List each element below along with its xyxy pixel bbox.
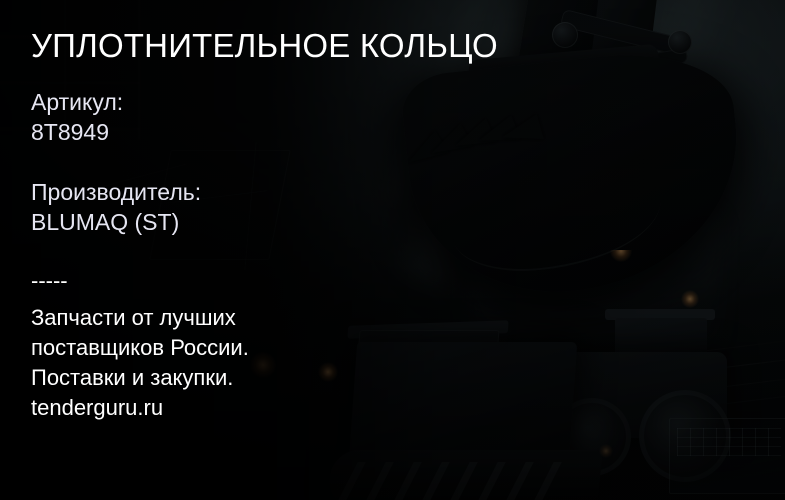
manufacturer-label: Производитель: (31, 177, 201, 207)
promo-block: Запчасти от лучших поставщиков России. П… (31, 303, 249, 423)
article-field: Артикул: 8T8949 (31, 87, 123, 147)
site-url[interactable]: tenderguru.ru (31, 393, 249, 423)
product-banner: УПЛОТНИТЕЛЬНОЕ КОЛЬЦО Артикул: 8T8949 Пр… (0, 0, 785, 500)
promo-line-3: Поставки и закупки. (31, 363, 249, 393)
divider-dashes: ----- (31, 268, 68, 294)
article-label: Артикул: (31, 87, 123, 117)
promo-line-1: Запчасти от лучших (31, 303, 249, 333)
product-title: УПЛОТНИТЕЛЬНОЕ КОЛЬЦО (31, 26, 498, 66)
promo-line-2: поставщиков России. (31, 333, 249, 363)
manufacturer-field: Производитель: BLUMAQ (ST) (31, 177, 201, 237)
manufacturer-value: BLUMAQ (ST) (31, 207, 201, 237)
banner-content: УПЛОТНИТЕЛЬНОЕ КОЛЬЦО Артикул: 8T8949 Пр… (0, 0, 785, 500)
article-value: 8T8949 (31, 117, 123, 147)
